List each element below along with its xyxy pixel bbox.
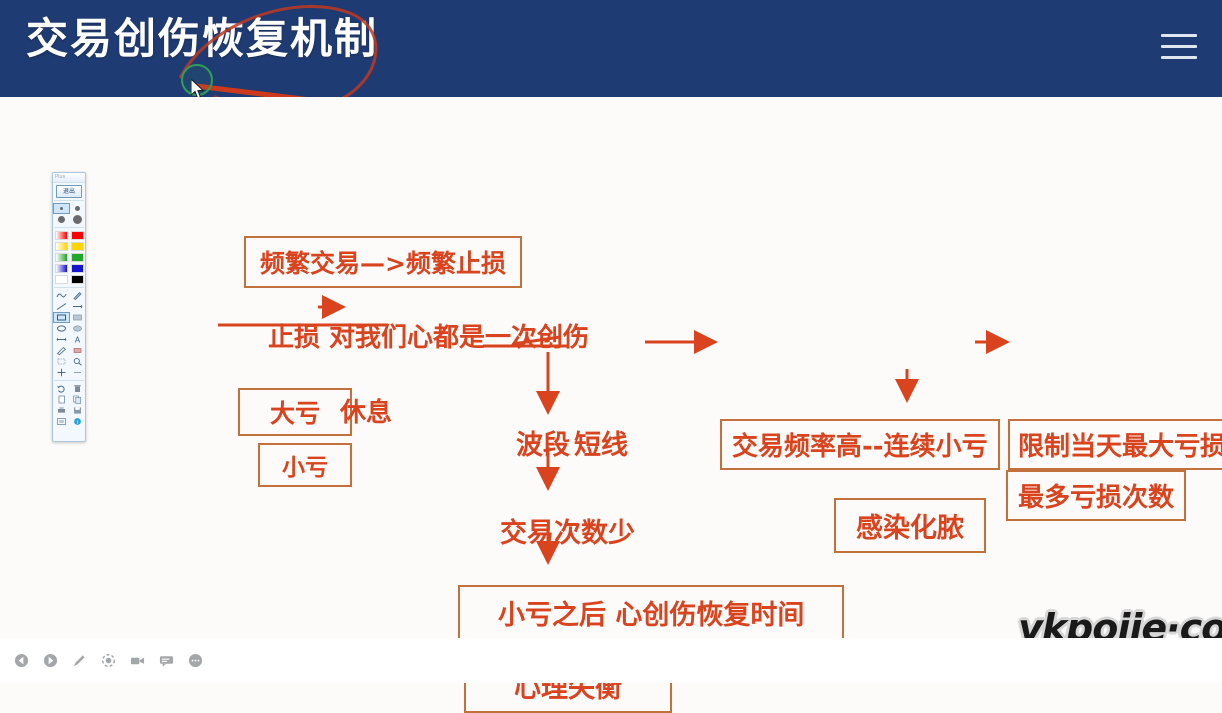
color-row-red[interactable]: [53, 230, 85, 241]
connector-arrows: [0, 97, 1222, 638]
color-yellow[interactable]: [69, 241, 85, 252]
crop-tool-icon[interactable]: [53, 356, 69, 367]
move-tool-icon[interactable]: [53, 367, 69, 378]
more-options-icon[interactable]: [188, 653, 203, 668]
toolbar-divider: [54, 227, 84, 228]
eraser-tool-icon[interactable]: [69, 345, 85, 356]
video-camera-icon[interactable]: [130, 653, 145, 668]
double-arrow-tool-icon[interactable]: [53, 334, 69, 345]
tool-row-2[interactable]: [53, 301, 85, 312]
brush-size-xlarge[interactable]: [69, 214, 85, 225]
node-short-trade[interactable]: 短线: [574, 423, 628, 462]
tool-row-9[interactable]: [53, 383, 85, 394]
node-daily-max-loss-limit[interactable]: 限制当天最大亏损: [1008, 419, 1222, 470]
copy-tool-icon[interactable]: [69, 394, 85, 405]
color-green[interactable]: [69, 252, 85, 263]
color-row-black[interactable]: [53, 274, 85, 285]
tool-row-10[interactable]: [53, 394, 85, 405]
color-black[interactable]: [69, 274, 85, 285]
new-page-tool-icon[interactable]: [53, 394, 69, 405]
minus-tool-icon[interactable]: [69, 367, 85, 378]
color-blue[interactable]: [69, 263, 85, 274]
pen-tool-icon[interactable]: [69, 290, 85, 301]
svg-text:A: A: [74, 336, 80, 344]
color-blue-gradient[interactable]: [53, 263, 69, 274]
delete-tool-icon[interactable]: [69, 383, 85, 394]
previous-slide-icon[interactable]: [14, 653, 29, 668]
tool-row-1[interactable]: [53, 290, 85, 301]
toolbar-divider: [54, 200, 84, 201]
node-recovery-time[interactable]: 小亏之后 心创伤恢复时间: [458, 585, 844, 640]
highlighter-tool-icon[interactable]: [53, 345, 69, 356]
toolbar-divider: [54, 380, 84, 381]
color-row-yellow[interactable]: [53, 241, 85, 252]
node-high-frequency-losses[interactable]: 交易频率高--连续小亏: [720, 419, 1000, 470]
tool-row-7[interactable]: [53, 356, 85, 367]
line-tool-icon[interactable]: [53, 301, 69, 312]
brush-size-row-1[interactable]: [53, 203, 85, 214]
tool-row-11[interactable]: [53, 405, 85, 416]
node-infection-festering[interactable]: 感染化脓: [834, 498, 986, 553]
brush-size-large[interactable]: [53, 214, 69, 225]
node-fewer-trades[interactable]: 交易次数少: [500, 511, 635, 550]
node-swing-trade[interactable]: 波段: [516, 423, 570, 462]
pen-icon[interactable]: [72, 653, 87, 668]
node-small-loss[interactable]: 小亏: [258, 443, 352, 487]
tool-row-12[interactable]: i: [53, 416, 85, 427]
filled-rectangle-tool-icon[interactable]: [70, 312, 85, 323]
screen-tool-icon[interactable]: [53, 416, 69, 427]
text-tool-icon[interactable]: A: [69, 334, 85, 345]
toolbar-divider: [54, 287, 84, 288]
slide-canvas[interactable]: 频繁交易—>频繁止损 止损 对我们心都是一次创伤 大亏 休息 小亏 波段 短线 …: [0, 97, 1222, 638]
curve-tool-icon[interactable]: [53, 290, 69, 301]
color-row-blue[interactable]: [53, 263, 85, 274]
brush-size-small[interactable]: [53, 203, 70, 214]
node-stoploss-trauma[interactable]: 止损 对我们心都是一次创伤: [268, 317, 589, 354]
toolbar-exit-button[interactable]: 退出: [56, 185, 82, 198]
node-frequent-trading[interactable]: 频繁交易—>频繁止损: [244, 236, 522, 288]
node-rest[interactable]: 休息: [340, 392, 392, 429]
comment-icon[interactable]: [159, 653, 174, 668]
color-green-gradient[interactable]: [53, 252, 69, 263]
hamburger-menu-icon[interactable]: [1161, 34, 1197, 62]
tool-row-4[interactable]: [53, 323, 85, 334]
print-tool-icon[interactable]: [53, 405, 69, 416]
player-bottom-bar[interactable]: [0, 638, 1222, 683]
node-big-loss[interactable]: 大亏: [238, 388, 352, 436]
color-red-gradient[interactable]: [53, 230, 69, 241]
ellipse-tool-icon[interactable]: [53, 323, 69, 334]
tool-row-5[interactable]: A: [53, 334, 85, 345]
tool-row-3[interactable]: [53, 312, 85, 323]
color-row-green[interactable]: [53, 252, 85, 263]
tool-row-6[interactable]: [53, 345, 85, 356]
tool-row-8[interactable]: [53, 367, 85, 378]
brush-size-medium[interactable]: [70, 203, 85, 214]
info-tool-icon[interactable]: i: [69, 416, 85, 427]
rectangle-tool-icon[interactable]: [53, 312, 70, 323]
undo-tool-icon[interactable]: [53, 383, 69, 394]
arrow-tool-icon[interactable]: [69, 301, 85, 312]
color-white[interactable]: [53, 274, 69, 285]
app-header: 交易创伤恢复机制: [0, 0, 1222, 97]
next-slide-icon[interactable]: [43, 653, 58, 668]
laser-pointer-icon[interactable]: [101, 653, 116, 668]
toolbar-titlebar: Plus: [53, 173, 85, 183]
annotation-toolbar[interactable]: Plus 退出: [52, 172, 86, 442]
svg-text:i: i: [76, 420, 78, 426]
node-max-loss-count[interactable]: 最多亏损次数: [1006, 470, 1186, 521]
filled-ellipse-tool-icon[interactable]: [69, 323, 85, 334]
brush-size-row-2[interactable]: [53, 214, 85, 225]
save-tool-icon[interactable]: [69, 405, 85, 416]
mouse-cursor-icon: [191, 79, 207, 97]
page-title: 交易创伤恢复机制: [26, 11, 378, 67]
magnifier-tool-icon[interactable]: [69, 356, 85, 367]
color-red[interactable]: [69, 230, 85, 241]
color-yellow-gradient[interactable]: [53, 241, 69, 252]
